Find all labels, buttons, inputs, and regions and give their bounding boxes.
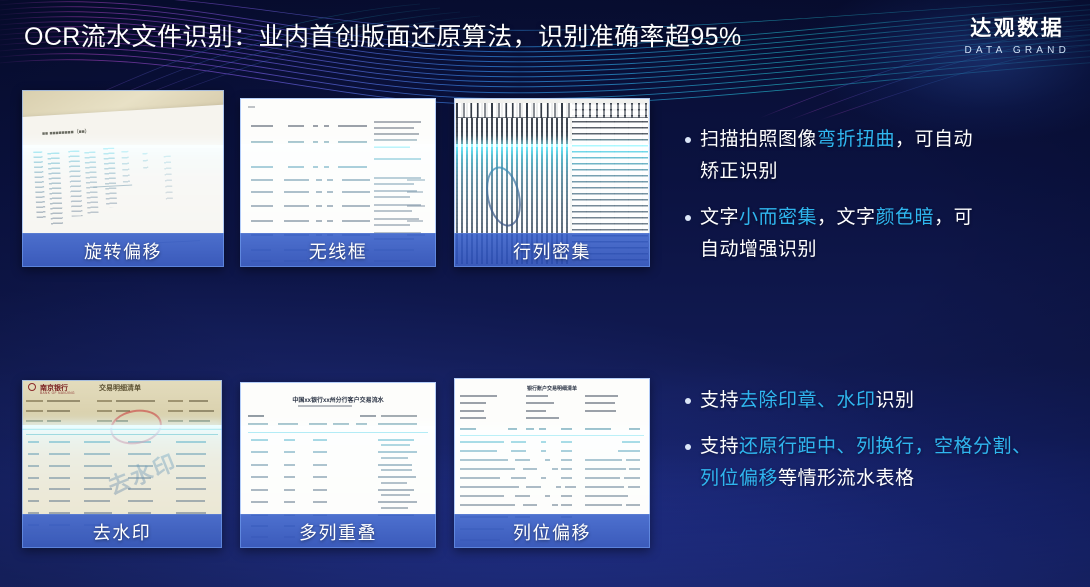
bullet-plain: ，文字 [817,207,876,228]
bullet-highlight: 小而密集 [739,207,817,228]
bullet-plain: 文字 [700,207,739,228]
card-caption: 列位偏移 [454,514,650,548]
bullet-plain: 支持 [700,436,739,457]
bullet-plain: 识别 [876,390,915,411]
bullet-plain: 等情形流水表格 [778,468,915,489]
brand-logo-cn: 达观数据 [964,12,1070,42]
card-column-shift[interactable]: 银行账户交易明细清单 [454,378,650,548]
card-multi-column-overlap[interactable]: 中国xx银行xx州分行客户交易流水 [240,382,436,548]
card-caption: 去水印 [22,514,222,548]
bullet-dot-icon [685,444,691,450]
brand-logo: 达观数据 DATA GRAND [964,12,1070,56]
bullet-item: 支持去除印章、水印识别 [685,385,1075,417]
card-remove-watermark[interactable]: 南京银行 BANK OF NANJING 交易明细清单 [22,380,222,548]
bullet-dot-icon [685,215,691,221]
brand-logo-en: DATA GRAND [964,45,1070,56]
card-rotation-offset[interactable]: ■■ ■■■■■■■■（■■） 旋转偏移 [22,90,224,267]
bullet-item: 支持还原行距中、列换行，空格分割、列位偏移等情形流水表格 [685,431,1075,495]
card-dense-rows-cols[interactable]: 行列密集 [454,98,650,267]
card-borderless-table[interactable]: 无线框 [240,98,436,267]
doc-bank-name-en: BANK OF NANJING [40,391,75,395]
page-title: OCR流水文件识别：业内首创版面还原算法，识别准确率超95% [24,17,742,53]
bullet-plain: 矫正识别 [700,161,778,182]
bullet-text: 支持去除印章、水印识别 [700,385,915,417]
bullet-group-bottom: 支持去除印章、水印识别支持还原行距中、列换行，空格分割、列位偏移等情形流水表格 [685,385,1075,509]
bullet-text: 文字小而密集，文字颜色暗，可自动增强识别 [700,202,973,266]
bullet-highlight: 列位偏移 [700,468,778,489]
bullet-item: 扫描拍照图像弯折扭曲，可自动矫正识别 [685,124,1065,188]
bullet-highlight: 弯折扭曲 [817,129,895,150]
bullet-text: 支持还原行距中、列换行，空格分割、列位偏移等情形流水表格 [700,431,1032,495]
doc-title: 中国xx银行xx州分行客户交易流水 [240,395,436,404]
bullet-plain: 支持 [700,390,739,411]
bullet-group-top: 扫描拍照图像弯折扭曲，可自动矫正识别文字小而密集，文字颜色暗，可自动增强识别 [685,124,1065,280]
bullet-dot-icon [685,137,691,143]
bullet-dot-icon [685,398,691,404]
doc-title: 交易明细清单 [78,383,162,393]
card-caption: 旋转偏移 [22,233,224,267]
doc-title: 银行账户交易明细清单 [454,385,650,392]
bullet-plain: 扫描拍照图像 [700,129,817,150]
bullet-highlight: 去除印章、水印 [739,390,876,411]
bullet-plain: ，可 [934,207,973,228]
bullet-plain: 自动增强识别 [700,239,817,260]
card-caption: 无线框 [240,233,436,267]
bullet-highlight: 颜色暗 [876,207,935,228]
bullet-text: 扫描拍照图像弯折扭曲，可自动矫正识别 [700,124,973,188]
card-caption: 行列密集 [454,233,650,267]
card-caption: 多列重叠 [240,514,436,548]
bullet-item: 文字小而密集，文字颜色暗，可自动增强识别 [685,202,1065,266]
bullet-highlight: 还原行距中、列换行，空格分割、 [739,436,1032,457]
bullet-plain: ，可自动 [895,129,973,150]
